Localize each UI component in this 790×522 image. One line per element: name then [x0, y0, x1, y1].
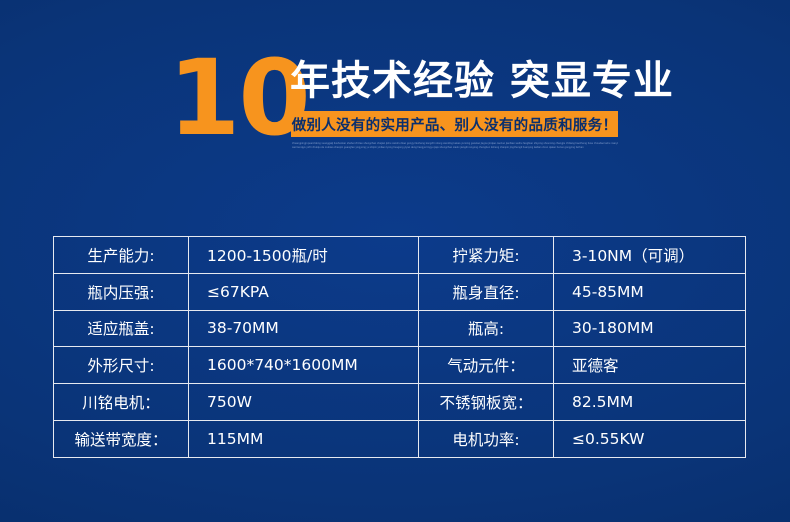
table-row: 适应瓶盖: 38-70MM 瓶高: 30-180MM — [54, 310, 746, 347]
tagline-bar: 做别人没有的实用产品、别人没有的品质和服务！ — [291, 111, 618, 137]
spec-value: 115MM — [189, 420, 419, 457]
table-row: 生产能力: 1200-1500瓶/时 拧紧力矩: 3-10NM（可调） — [54, 237, 746, 274]
spec-value: 45-85MM — [554, 273, 746, 310]
spec-value: 82.5MM — [554, 384, 746, 421]
spec-label: 川铭电机： — [54, 384, 189, 421]
spec-label: 生产能力: — [54, 237, 189, 274]
spec-label: 气动元件： — [419, 347, 554, 384]
spec-label: 拧紧力矩: — [419, 237, 554, 274]
promo-header: 10 年技术经验 突显专业 做别人没有的实用产品、别人没有的品质和服务！ zhu… — [0, 0, 790, 185]
years-number: 10 — [168, 46, 309, 150]
spec-table-body: 生产能力: 1200-1500瓶/时 拧紧力矩: 3-10NM（可调） 瓶内压强… — [54, 237, 746, 458]
spec-value: ≤67KPA — [189, 273, 419, 310]
spec-label: 适应瓶盖: — [54, 310, 189, 347]
spec-value: 亚德客 — [554, 347, 746, 384]
spec-value: 3-10NM（可调） — [554, 237, 746, 274]
spec-label: 输送带宽度： — [54, 420, 189, 457]
spec-label: 瓶内压强: — [54, 273, 189, 310]
spec-value: 38-70MM — [189, 310, 419, 347]
spec-label: 瓶高: — [419, 310, 554, 347]
spec-value: 1600*740*1600MM — [189, 347, 419, 384]
spec-value: 30-180MM — [554, 310, 746, 347]
spec-value: 750W — [189, 384, 419, 421]
headline-text: 年技术经验 突显专业 — [290, 58, 674, 104]
table-row: 瓶内压强: ≤67KPA 瓶身直径: 45-85MM — [54, 273, 746, 310]
table-row: 输送带宽度： 115MM 电机功率: ≤0.55KW — [54, 420, 746, 457]
table-row: 外形尺寸: 1600*740*1600MM 气动元件： 亚德客 — [54, 347, 746, 384]
tagline-text: 做别人没有的实用产品、别人没有的品质和服务！ — [292, 114, 618, 135]
spec-value: 1200-1500瓶/时 — [189, 237, 419, 274]
spec-label: 电机功率: — [419, 420, 554, 457]
table-row: 川铭电机： 750W 不锈钢板宽： 82.5MM — [54, 384, 746, 421]
spec-label: 外形尺寸: — [54, 347, 189, 384]
decorative-microtext: zhuangpingji quanzidong xuanggaiji liush… — [292, 142, 618, 159]
specification-table: 生产能力: 1200-1500瓶/时 拧紧力矩: 3-10NM（可调） 瓶内压强… — [53, 236, 746, 458]
spec-value: ≤0.55KW — [554, 420, 746, 457]
spec-label: 瓶身直径: — [419, 273, 554, 310]
spec-label: 不锈钢板宽： — [419, 384, 554, 421]
